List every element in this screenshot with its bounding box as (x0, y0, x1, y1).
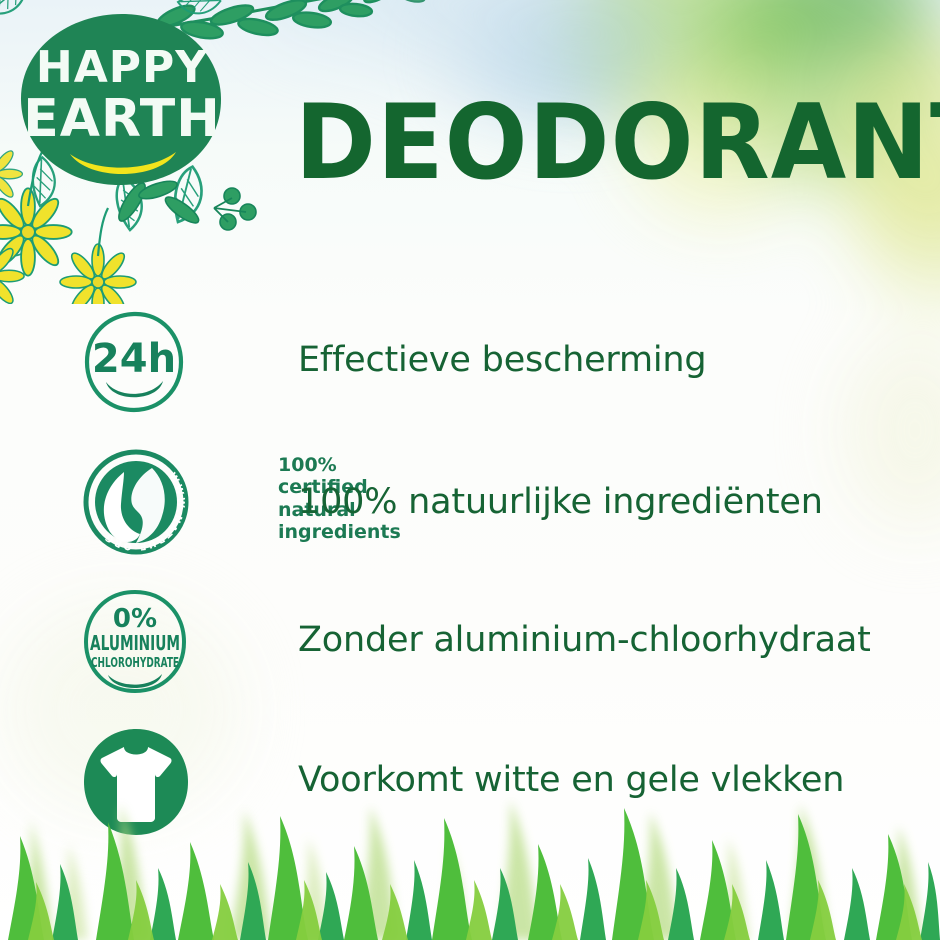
24h-badge-icon: 24h (80, 292, 300, 432)
aluminium-badge-line-2: ALUMINIUM (90, 631, 180, 655)
happy-earth-logo[interactable]: HAPPY EARTH (14, 10, 230, 192)
product-feature-banner: HAPPY EARTH HAPPY EARTH DEODORANT 24h Ef… (0, 0, 940, 940)
page-title: DEODORANT (295, 92, 940, 195)
feature-label-natural-ingredients: 100% natuurlijke ingrediënten (298, 482, 823, 522)
24h-badge-text: 24h (92, 336, 176, 382)
feature-label-protection: Effectieve bescherming (298, 340, 706, 380)
feature-label-no-aluminium: Zonder aluminium-chloorhydraat (298, 620, 871, 660)
feature-row-no-aluminium: 0% ALUMINIUM CHLOROHYDRATE Zonder alumin… (0, 572, 940, 712)
feature-row-no-stains: Voorkomt witte en gele vlekken (0, 712, 940, 852)
feature-row-protection: 24h Effectieve bescherming (0, 292, 940, 432)
aluminium-badge-line-1: 0% (113, 604, 157, 634)
natrue-certification-icon: WWW.NATRUE.ORG 100% certified natural in… (80, 432, 300, 572)
feature-label-no-stains: Voorkomt witte en gele vlekken (298, 760, 844, 800)
zero-percent-aluminium-badge-icon: 0% ALUMINIUM CHLOROHYDRATE (80, 572, 300, 712)
aluminium-badge-line-3: CHLOROHYDRATE (91, 656, 179, 671)
natrue-caption-line-4: ingredients (278, 521, 384, 543)
feature-row-natural-ingredients: WWW.NATRUE.ORG 100% certified natural in… (0, 432, 940, 572)
logo-text-happy: HAPPY (36, 42, 208, 93)
natrue-caption-line-1: 100% (278, 454, 384, 476)
feature-list: 24h Effectieve bescherming (0, 292, 940, 852)
tshirt-badge-icon (80, 712, 300, 852)
logo-text-earth: EARTH (23, 89, 220, 149)
